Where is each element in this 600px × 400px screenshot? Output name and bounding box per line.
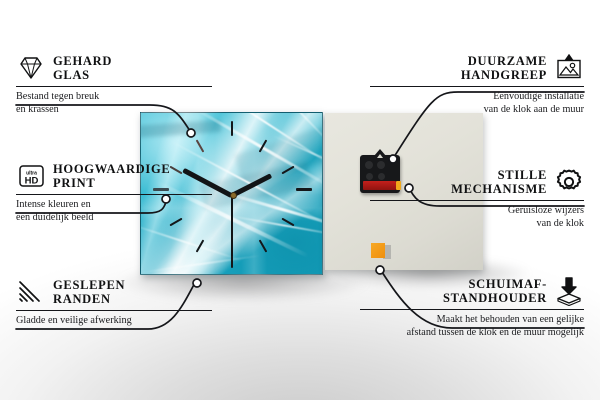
clock-hour-hand xyxy=(231,173,273,198)
clock-tick-11 xyxy=(196,139,205,152)
feather-streak-6 xyxy=(228,215,323,238)
feature-head: SCHUIMAF- STANDHOUDER xyxy=(360,276,584,306)
svg-text:HD: HD xyxy=(24,176,38,187)
feature-title-line2: HANDGREEP xyxy=(461,68,547,82)
ultra-hd-icon: ultra HD xyxy=(16,161,46,191)
feature-title-line2: GLAS xyxy=(53,68,112,82)
feature-title: HOOGWAARDIGE PRINT xyxy=(53,162,170,190)
feature-head: DUURZAME HANDGREEP xyxy=(370,53,584,83)
feature-desc-line1: Bestand tegen breuk xyxy=(16,91,230,103)
feature-title-line2: MECHANISME xyxy=(451,182,547,196)
feature-title: GEHARD GLAS xyxy=(53,54,112,82)
feature-desc: Maakt het behouden van een gelijke afsta… xyxy=(360,314,584,339)
feature-title: STILLE MECHANISME xyxy=(451,168,547,196)
feature-gehard-glas: GEHARD GLAS Bestand tegen breuk en krass… xyxy=(16,53,230,116)
feature-hoogwaardige-print: ultra HD HOOGWAARDIGE PRINT Intense kleu… xyxy=(16,161,230,224)
feature-desc-line2: van de klok aan de muur xyxy=(370,104,584,116)
clock-tick-3 xyxy=(296,188,312,191)
feature-title-line1: SCHUIMAF- xyxy=(443,277,547,291)
feature-title-line1: GESLEPEN xyxy=(53,278,125,292)
feature-desc-line1: Intense kleuren en xyxy=(16,199,230,211)
feature-head: GESLEPEN RANDEN xyxy=(16,277,230,307)
feature-title: DUURZAME HANDGREEP xyxy=(461,54,547,82)
clock-tick-7 xyxy=(196,239,205,252)
feather-streak-8 xyxy=(257,112,323,148)
diamond-icon xyxy=(16,53,46,83)
feature-title: SCHUIMAF- STANDHOUDER xyxy=(443,277,547,305)
feature-title: GESLEPEN RANDEN xyxy=(53,278,125,306)
clock-center-cap xyxy=(230,192,237,199)
clock-tick-12 xyxy=(231,121,233,136)
feature-desc: Geruisloze wijzers van de klok xyxy=(370,205,584,230)
feature-desc: Bestand tegen breuk en krassen xyxy=(16,91,230,116)
clock-tick-4 xyxy=(281,218,294,227)
feather-streak-7 xyxy=(140,223,242,262)
feature-desc-line1: Maakt het behouden van een gelijke xyxy=(360,314,584,326)
feature-title-line1: HOOGWAARDIGE xyxy=(53,162,170,176)
feature-desc-line2: en krassen xyxy=(16,104,230,116)
feature-desc-line2: van de klok xyxy=(370,218,584,230)
feature-title-line1: DUURZAME xyxy=(461,54,547,68)
feather-streak-10 xyxy=(141,255,260,274)
feature-title-line2: RANDEN xyxy=(53,292,125,306)
clock-second-hand xyxy=(231,195,233,256)
feature-head: GEHARD GLAS xyxy=(16,53,230,83)
pattern-dark-band-1 xyxy=(140,120,221,138)
feature-title-line2: STANDHOUDER xyxy=(443,291,547,305)
feature-duurzame-handgreep: DUURZAME HANDGREEP Eenvoudige installati… xyxy=(370,53,584,116)
feature-rule xyxy=(370,86,584,87)
feather-streak-9 xyxy=(272,135,323,173)
feature-head: ultra HD HOOGWAARDIGE PRINT xyxy=(16,161,230,191)
feature-desc-line2: een duidelijk beeld xyxy=(16,212,230,224)
bevelled-edge-icon xyxy=(16,277,46,307)
feature-title-line1: GEHARD xyxy=(53,54,112,68)
feature-schuimaf-standhouder: SCHUIMAF- STANDHOUDER Maakt het behouden… xyxy=(360,276,584,339)
feature-rule xyxy=(16,310,212,311)
feature-rule xyxy=(370,200,584,201)
wall-hook-hole xyxy=(377,154,383,158)
feature-desc-line1: Gladde en veilige afwerking xyxy=(16,315,230,327)
framed-picture-icon xyxy=(554,53,584,83)
feature-title-line1: STILLE xyxy=(451,168,547,182)
feature-desc-line1: Eenvoudige installatie xyxy=(370,91,584,103)
pattern-dark-band-3 xyxy=(234,124,323,187)
feather-streak-1 xyxy=(205,112,323,166)
press-pad-icon xyxy=(554,276,584,306)
foam-spacer-pad xyxy=(371,243,385,258)
clock-tick-5 xyxy=(259,239,268,252)
gear-icon xyxy=(554,167,584,197)
feature-title-line2: PRINT xyxy=(53,176,170,190)
feature-desc: Eenvoudige installatie van de klok aan d… xyxy=(370,91,584,116)
feature-desc-line1: Geruisloze wijzers xyxy=(370,205,584,217)
clock-tick-1 xyxy=(259,139,268,152)
feature-geslepen-randen: GESLEPEN RANDEN Gladde en veilige afwerk… xyxy=(16,277,230,328)
feature-rule xyxy=(16,86,212,87)
feature-desc-line2: afstand tussen de klok en de muur mogeli… xyxy=(360,327,584,339)
feature-rule xyxy=(360,309,584,310)
feature-head: STILLE MECHANISME xyxy=(370,167,584,197)
feature-stille-mechanisme: STILLE MECHANISME Geruisloze wijzers van… xyxy=(370,167,584,230)
feature-desc: Intense kleuren en een duidelijk beeld xyxy=(16,199,230,224)
feature-desc: Gladde en veilige afwerking xyxy=(16,315,230,327)
feature-rule xyxy=(16,194,212,195)
infographic-canvas: GEHARD GLAS Bestand tegen breuk en krass… xyxy=(0,0,600,400)
clock-tick-2 xyxy=(281,166,294,175)
